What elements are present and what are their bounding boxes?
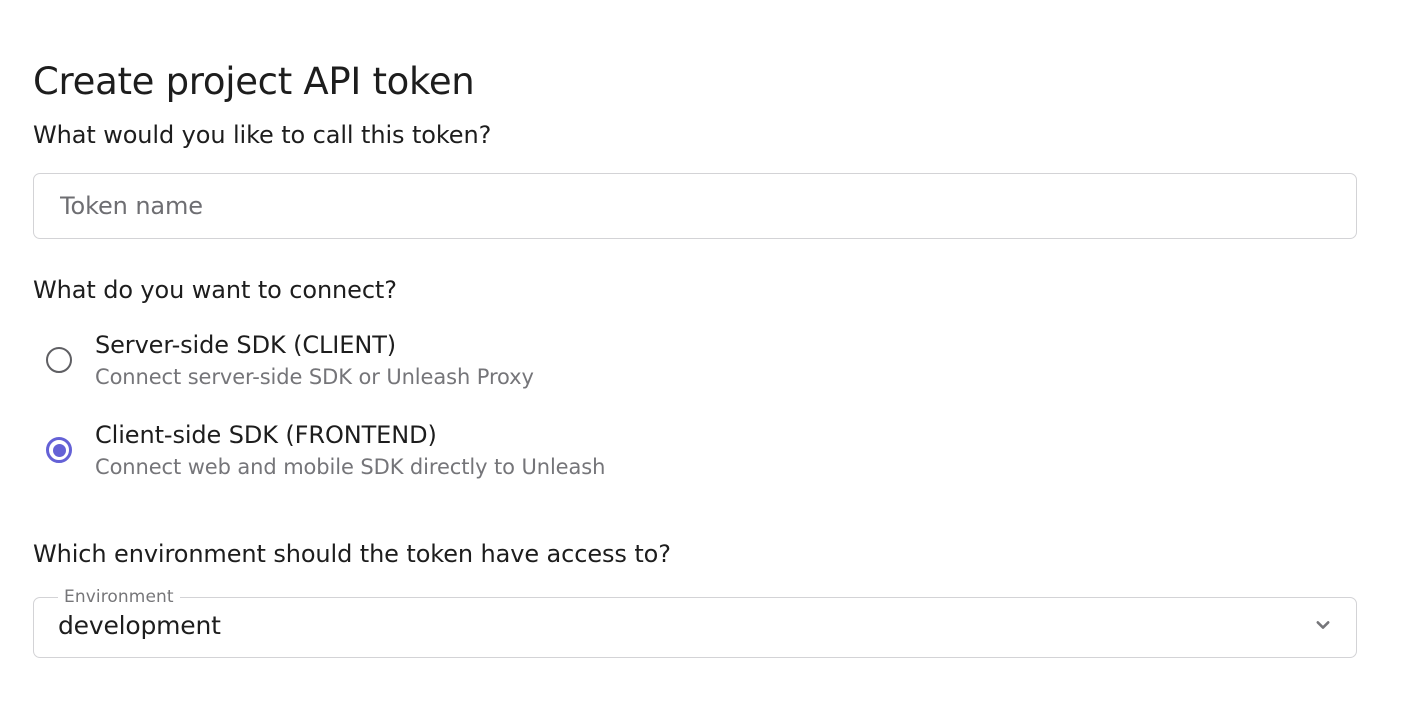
page-title: Create project API token bbox=[33, 56, 474, 108]
environment-select-value-container[interactable]: development bbox=[33, 592, 1357, 658]
environment-select[interactable]: development Environment bbox=[33, 592, 1357, 658]
environment-label: Which environment should the token have … bbox=[33, 538, 671, 570]
radio-description: Connect web and mobile SDK directly to U… bbox=[95, 452, 605, 482]
token-name-label: What would you like to call this token? bbox=[33, 119, 491, 151]
radio-title: Server-side SDK (CLIENT) bbox=[95, 328, 534, 362]
radio-description: Connect server-side SDK or Unleash Proxy bbox=[95, 362, 534, 392]
radio-title: Client-side SDK (FRONTEND) bbox=[95, 418, 605, 452]
connect-type-label: What do you want to connect? bbox=[33, 274, 397, 306]
radio-button-client-side-sdk[interactable] bbox=[33, 424, 85, 476]
radio-option-server-side-sdk[interactable]: Server-side SDK (CLIENT) Connect server-… bbox=[33, 322, 1357, 398]
environment-select-value: development bbox=[58, 611, 221, 640]
radio-option-client-side-sdk[interactable]: Client-side SDK (FRONTEND) Connect web a… bbox=[33, 412, 1357, 488]
radio-circle-icon bbox=[46, 347, 72, 373]
radio-button-server-side-sdk[interactable] bbox=[33, 334, 85, 386]
token-name-input-container[interactable] bbox=[33, 173, 1357, 239]
radio-dot-icon bbox=[53, 444, 66, 457]
token-name-input[interactable] bbox=[34, 174, 1356, 238]
connect-type-radio-group: Server-side SDK (CLIENT) Connect server-… bbox=[33, 322, 1357, 502]
radio-option-text-server-side-sdk: Server-side SDK (CLIENT) Connect server-… bbox=[95, 328, 534, 392]
radio-option-text-client-side-sdk: Client-side SDK (FRONTEND) Connect web a… bbox=[95, 418, 605, 482]
create-api-token-form: Create project API token What would you … bbox=[0, 0, 1404, 716]
